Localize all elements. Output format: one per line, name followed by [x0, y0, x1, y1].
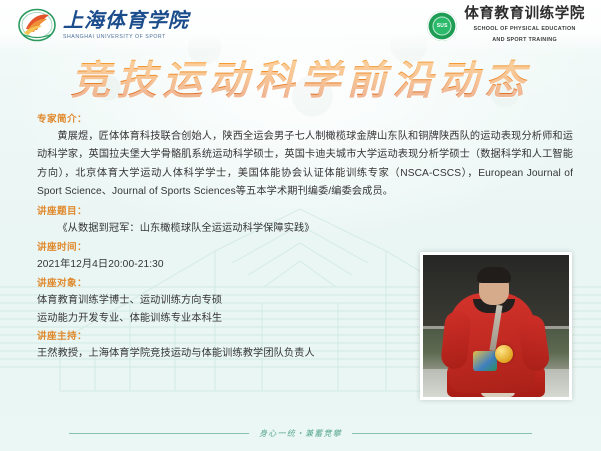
section-label: 专家简介：: [0, 112, 601, 128]
section-paragraph: 黄展煜，匠体体育科技联合创始人，陕西全运会男子七人制橄榄球金牌山东队和铜牌陕西队…: [0, 128, 601, 202]
footer-motto: 身心一统・兼蓄竞攀: [259, 428, 342, 439]
sus-logo: 上海体育学院 SHANGHAI UNIVERSITY OF SPORT: [18, 8, 189, 42]
poster-header: 上海体育学院 SHANGHAI UNIVERSITY OF SPORT SUS …: [0, 0, 601, 52]
section-lecture-topic: 讲座题目： 《从数据到冠军：山东橄榄球队全运运动科学保障实践》: [0, 204, 601, 238]
sus-flame-emblem-icon: [18, 8, 56, 42]
section-label: 讲座题目：: [0, 204, 601, 220]
photo-accreditation-badge: [473, 351, 497, 371]
spe-name-en-line1: SCHOOL OF PHYSICAL EDUCATION: [464, 25, 585, 33]
sus-name-cn: 上海体育学院: [63, 11, 189, 31]
spe-shield-emblem-icon: SUS: [427, 11, 457, 41]
speaker-photo: [420, 252, 572, 400]
section-expert-profile: 专家简介： 黄展煜，匠体体育科技联合创始人，陕西全运会男子七人制橄榄球金牌山东队…: [0, 112, 601, 202]
footer-divider-left: [69, 433, 249, 434]
spe-abbr: SUS: [437, 23, 448, 29]
photo-person-hair: [477, 267, 511, 283]
sus-name-en: SHANGHAI UNIVERSITY OF SPORT: [63, 34, 189, 40]
spe-name-cn: 体育教育训练学院: [464, 7, 585, 22]
footer-divider-right: [352, 433, 532, 434]
photo-gold-medal-icon: [495, 345, 513, 363]
section-paragraph: 《从数据到冠军：山东橄榄球队全运运动科学保障实践》: [0, 220, 601, 238]
spe-name-en-line2: AND SPORT TRAINING: [464, 36, 585, 44]
poster-footer: 身心一统・兼蓄竞攀: [0, 428, 601, 439]
poster-title: 竞技运动科学前沿动态: [0, 58, 601, 104]
lecture-poster: 上海体育学院 SHANGHAI UNIVERSITY OF SPORT SUS …: [0, 0, 601, 451]
spe-logo: SUS 体育教育训练学院 SCHOOL OF PHYSICAL EDUCATIO…: [427, 7, 585, 44]
